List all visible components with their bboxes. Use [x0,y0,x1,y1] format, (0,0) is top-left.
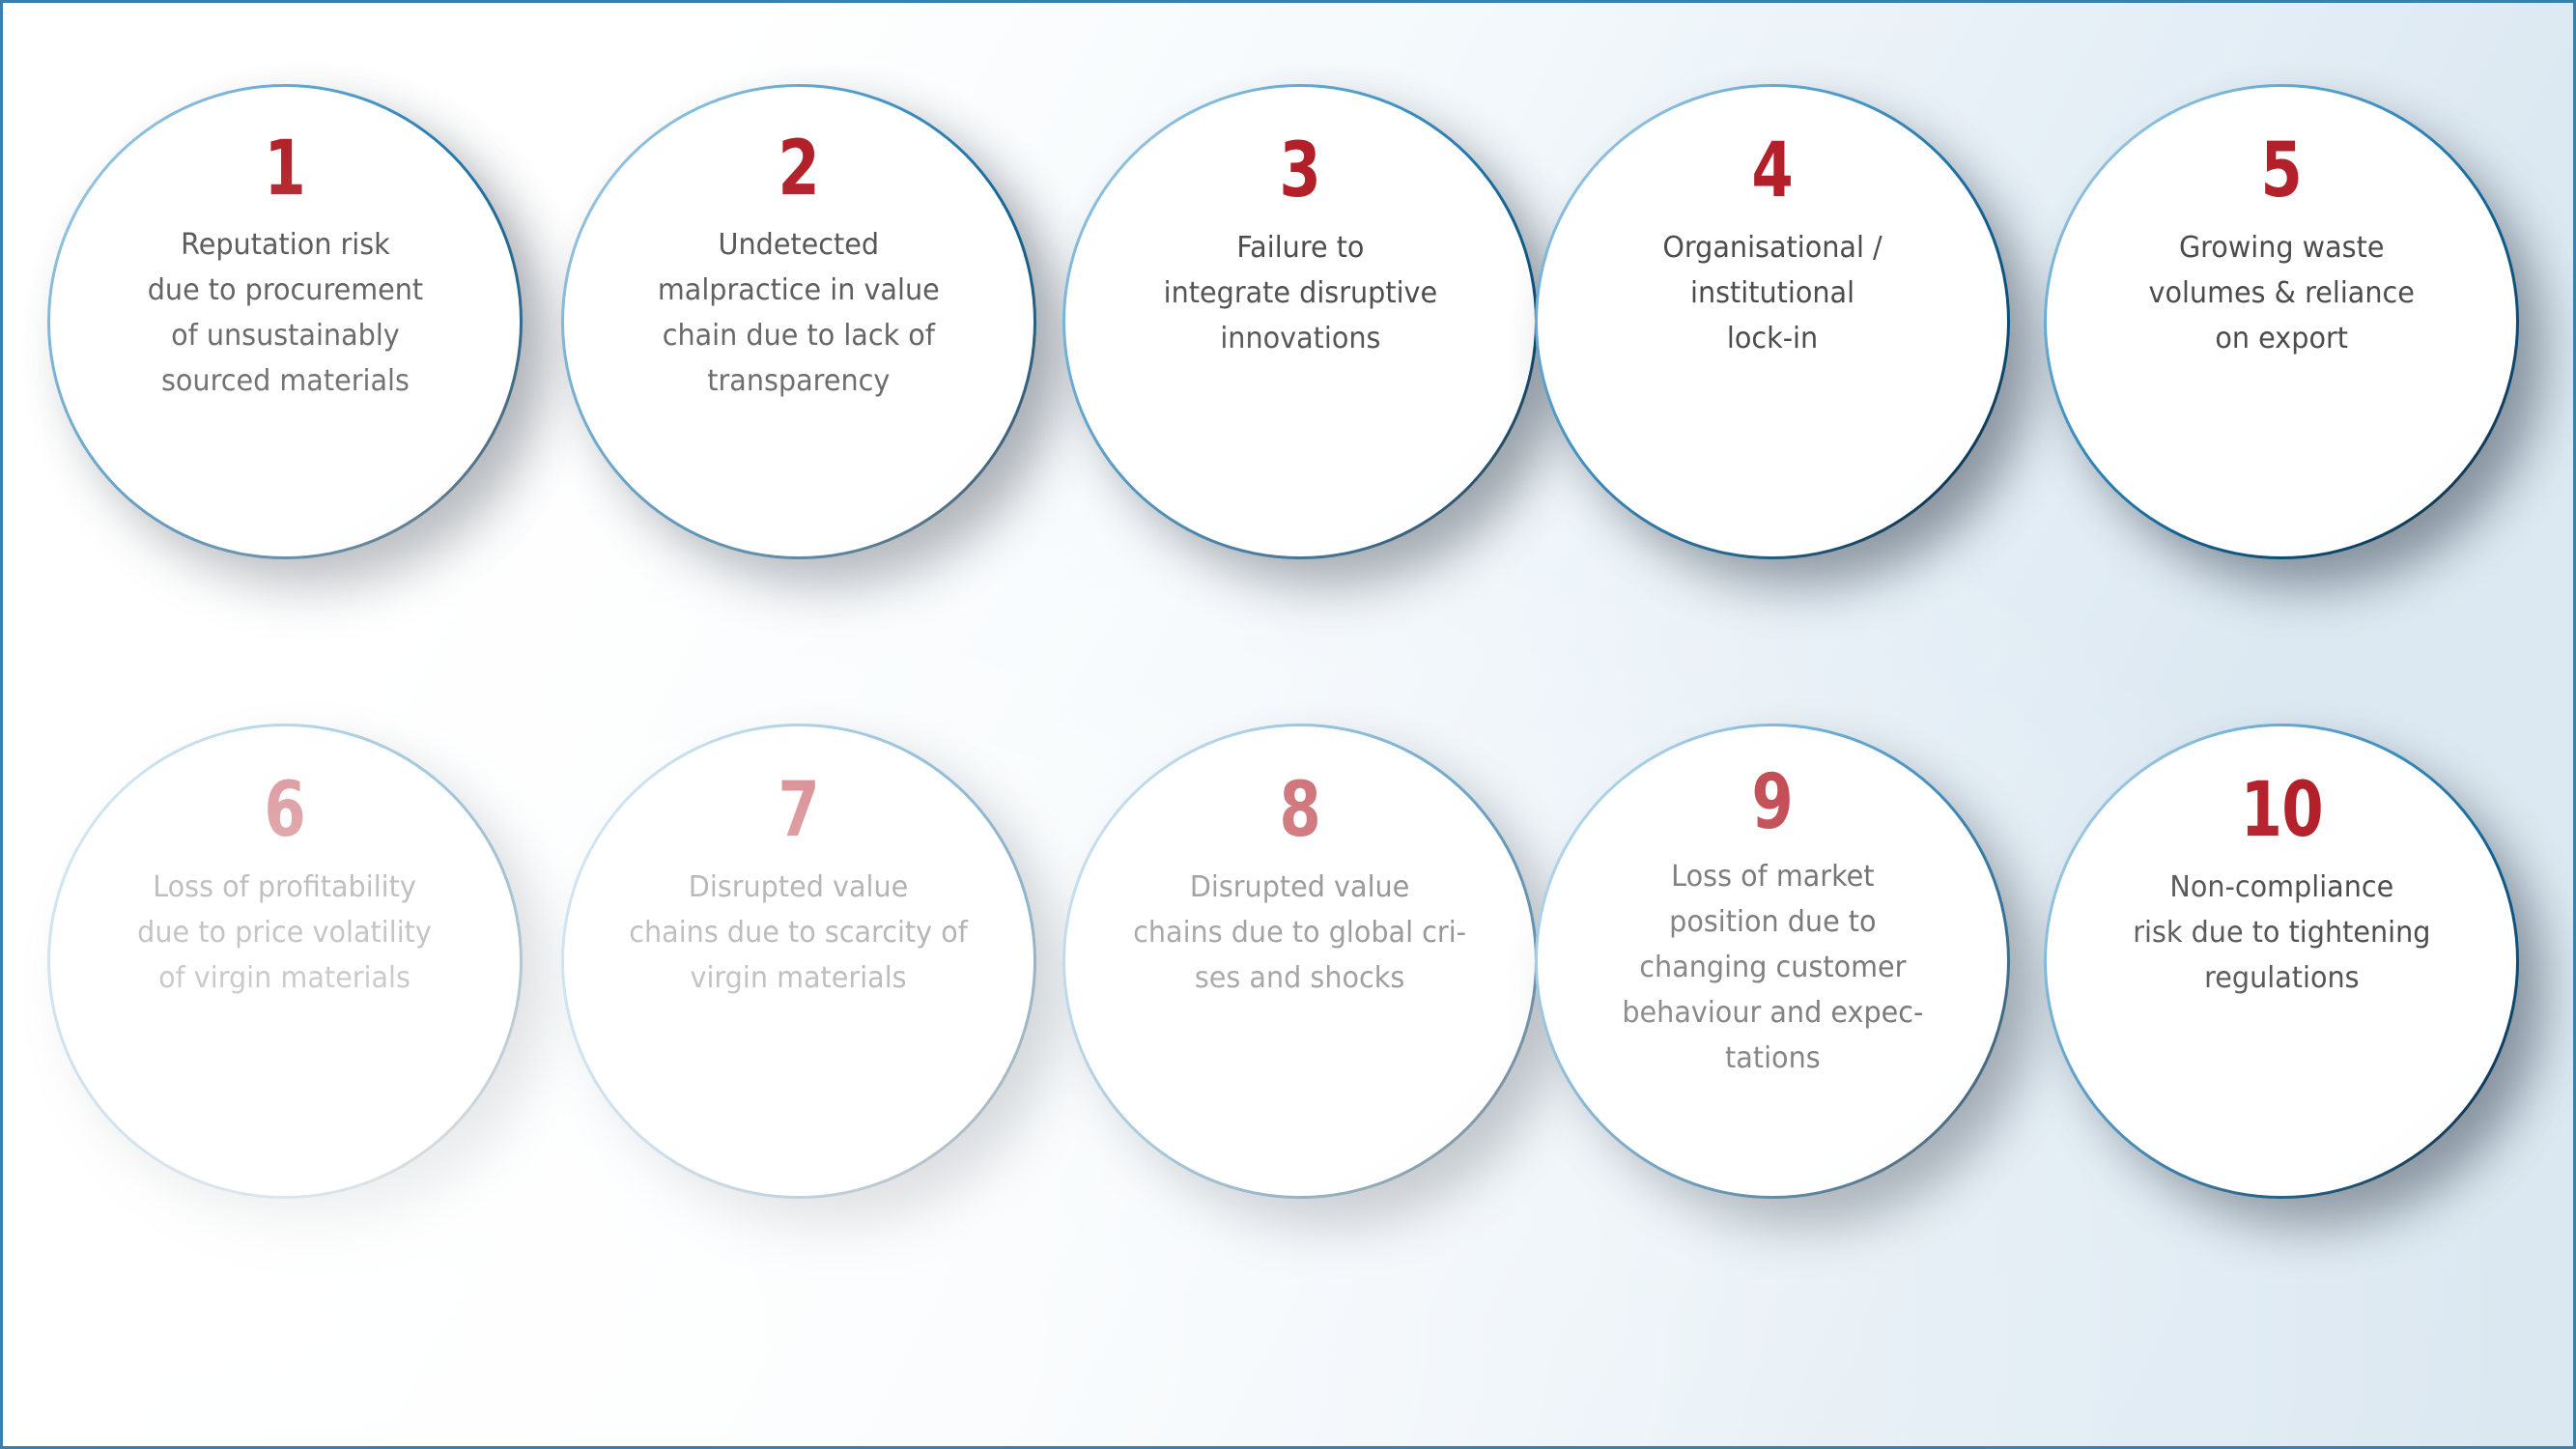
circle-caption: Organisational / institutional lock-in [1662,225,1882,361]
circle-caption: Disrupted value chains due to global cri… [1134,865,1467,1001]
circle-face: 1 Reputation risk due to procurement of … [50,87,521,557]
diagram-canvas: 1 Reputation risk due to procurement of … [0,0,2576,1449]
circle-face: 5 Growing waste volumes & reliance on ex… [2047,87,2517,557]
circle-caption: Failure to integrate disruptive innovati… [1163,225,1436,361]
circle-number: 8 [1280,773,1321,848]
circle-item-6[interactable]: 6 Loss of profitability due to price vol… [47,724,523,1199]
circle-caption: Growing waste volumes & reliance on expo… [2148,225,2414,361]
circle-face: 6 Loss of profitability due to price vol… [50,726,521,1197]
circle-item-8[interactable]: 8 Disrupted value chains due to global c… [1062,724,1538,1199]
circle-item-9[interactable]: 9 Loss of market position due to changin… [1535,724,2010,1199]
circle-number: 9 [1752,765,1794,840]
circle-number: 1 [265,131,306,207]
circle-face: 2 Undetected malpractice in value chain … [564,87,1034,557]
circle-caption: Disrupted value chains due to scarcity o… [630,865,969,1001]
circle-number: 2 [778,131,820,207]
circle-item-5[interactable]: 5 Growing waste volumes & reliance on ex… [2044,84,2519,559]
circle-face: 9 Loss of market position due to changin… [1538,726,2008,1197]
circle-face: 7 Disrupted value chains due to scarcity… [564,726,1034,1197]
circle-number: 10 [2240,773,2322,848]
circle-number: 5 [2261,133,2303,209]
circle-item-10[interactable]: 10 Non-compliance risk due to tightening… [2044,724,2519,1199]
circle-caption: Non-compliance risk due to tightening re… [2133,865,2430,1001]
circle-item-3[interactable]: 3 Failure to integrate disruptive innova… [1062,84,1538,559]
circle-number: 6 [265,773,306,848]
circle-face: 3 Failure to integrate disruptive innova… [1065,87,1536,557]
circle-item-4[interactable]: 4 Organisational / institutional lock-in [1535,84,2010,559]
circle-caption: Loss of market position due to changing … [1622,854,1923,1081]
circle-grid: 1 Reputation risk due to procurement of … [3,3,2573,1446]
circle-item-2[interactable]: 2 Undetected malpractice in value chain … [561,84,1036,559]
circle-face: 8 Disrupted value chains due to global c… [1065,726,1536,1197]
circle-face: 10 Non-compliance risk due to tightening… [2047,726,2517,1197]
circle-caption: Undetected malpractice in value chain du… [658,222,940,404]
circle-number: 7 [778,773,820,848]
circle-item-1[interactable]: 1 Reputation risk due to procurement of … [47,84,523,559]
circle-item-7[interactable]: 7 Disrupted value chains due to scarcity… [561,724,1036,1199]
circle-caption: Loss of profitability due to price volat… [138,865,433,1001]
circle-face: 4 Organisational / institutional lock-in [1538,87,2008,557]
circle-caption: Reputation risk due to procurement of un… [147,222,422,404]
circle-number: 3 [1280,133,1321,209]
circle-number: 4 [1752,133,1794,209]
